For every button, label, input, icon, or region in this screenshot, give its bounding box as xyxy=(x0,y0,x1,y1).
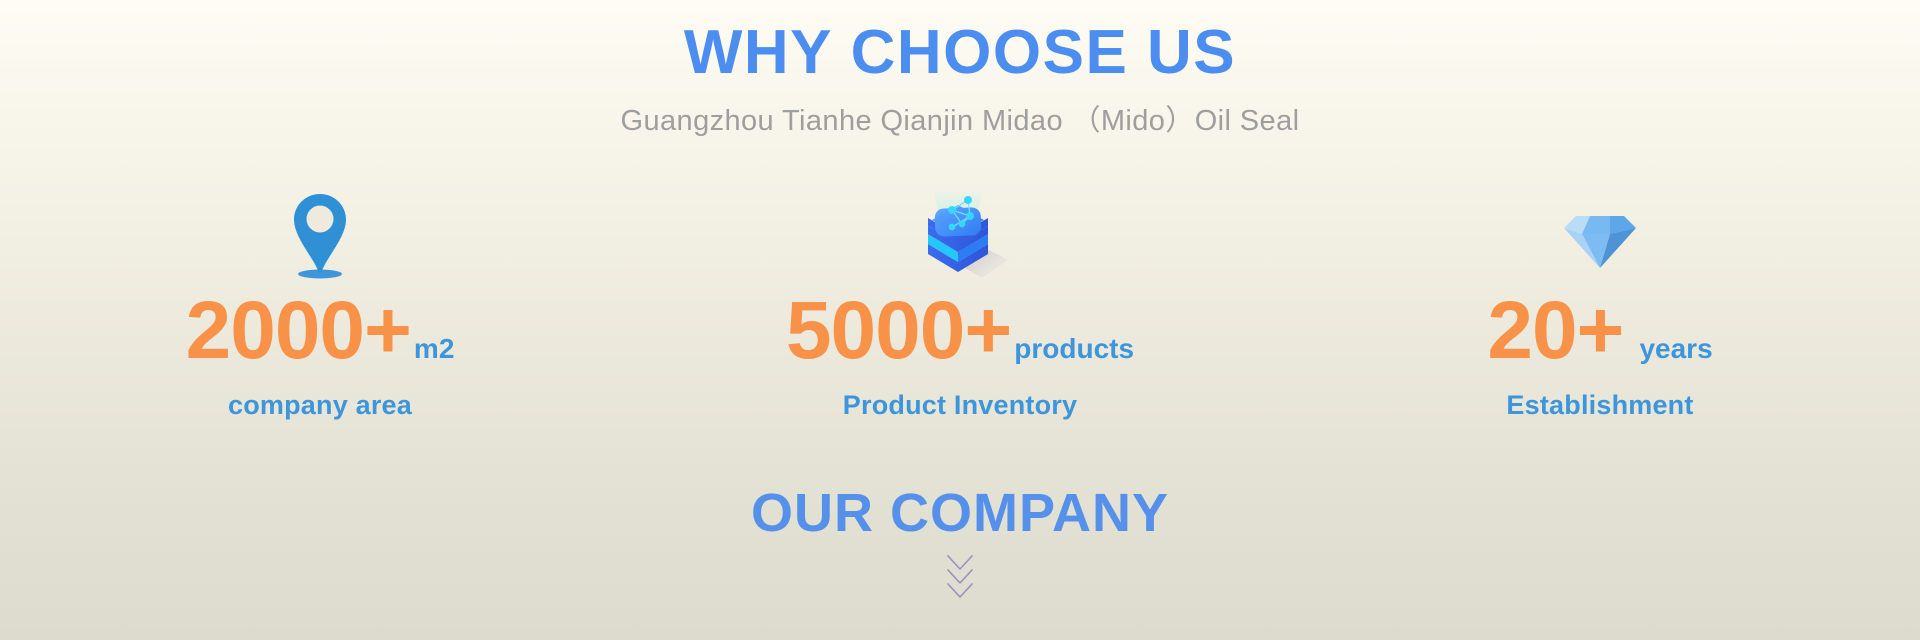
why-choose-us-banner: WHY CHOOSE US Guangzhou Tianhe Qianjin M… xyxy=(0,0,1920,640)
footer-title: OUR COMPANY xyxy=(0,482,1920,544)
diamond-icon xyxy=(1552,186,1648,282)
stat-item-establishment: 20+ years Establishment xyxy=(1320,186,1880,421)
location-pin-icon xyxy=(285,186,355,282)
stacked-layers-icon xyxy=(908,186,1012,282)
stat-value-row: 2000+ m2 xyxy=(186,290,455,372)
stat-label: Establishment xyxy=(1506,390,1693,421)
banner-footer: OUR COMPANY xyxy=(0,482,1920,610)
page-title: WHY CHOOSE US xyxy=(0,18,1920,87)
stat-item-product-inventory: 5000+ products Product Inventory xyxy=(680,186,1240,421)
stat-number: 5000+ xyxy=(786,290,1011,372)
stat-label: company area xyxy=(228,390,412,421)
stat-number: 2000+ xyxy=(186,290,411,372)
stat-number: 20+ xyxy=(1487,290,1623,372)
chevron-double-down-icon[interactable] xyxy=(0,552,1920,610)
page-subtitle: Guangzhou Tianhe Qianjin Midao （Mido）Oil… xyxy=(0,97,1920,139)
stat-unit: years xyxy=(1639,335,1712,363)
stat-value-row: 20+ years xyxy=(1487,290,1712,372)
banner-header: WHY CHOOSE US Guangzhou Tianhe Qianjin M… xyxy=(0,0,1920,139)
stat-label: Product Inventory xyxy=(843,390,1077,421)
stat-value-row: 5000+ products xyxy=(786,290,1134,372)
stat-unit: m2 xyxy=(414,335,454,363)
stat-unit: products xyxy=(1014,335,1134,363)
stat-item-company-area: 2000+ m2 company area xyxy=(40,186,600,421)
stats-row: 2000+ m2 company area xyxy=(0,186,1920,421)
